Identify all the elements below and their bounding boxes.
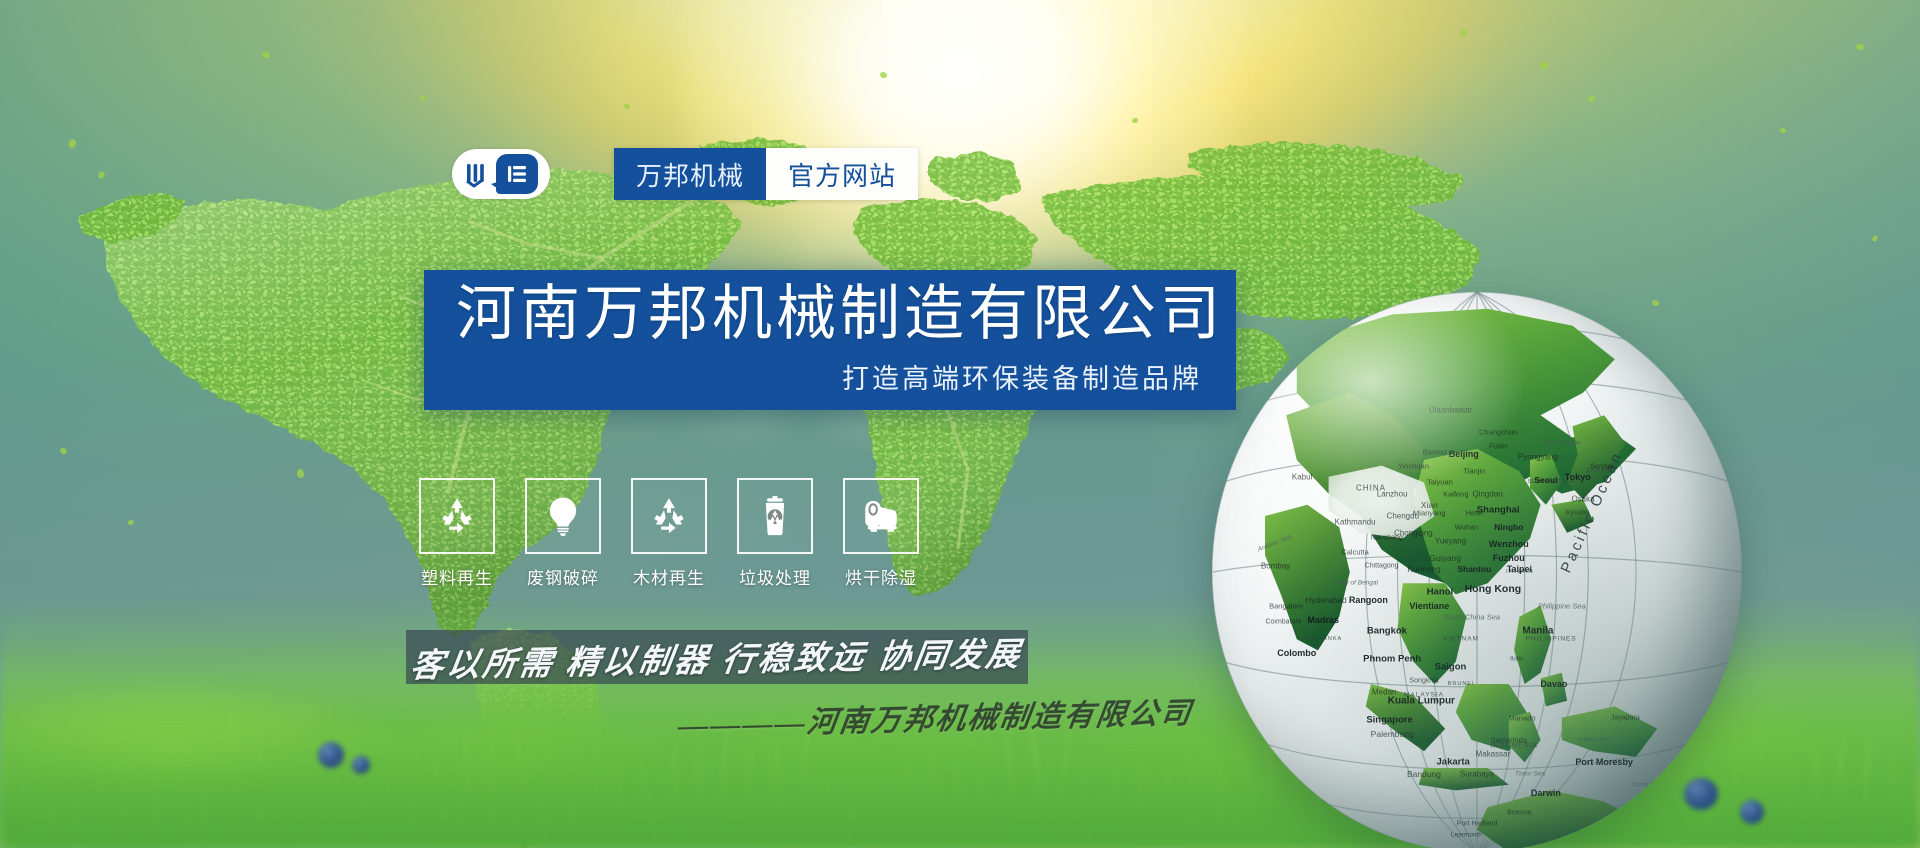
globe-city-label: Hong Kong [1465, 583, 1522, 595]
globe-country-label: BRUNEI [1448, 681, 1475, 687]
globe-city-label: Saigon [1435, 662, 1467, 673]
recycle-icon [419, 478, 495, 554]
globe-city-label: Palembang [1371, 729, 1414, 739]
tab-official-site[interactable]: 官方网站 [766, 148, 918, 200]
globe-city-label: Rangoon [1349, 595, 1388, 605]
globe-city-label: Ningbo [1494, 522, 1523, 532]
globe-city-label: Broome [1507, 809, 1532, 816]
globe-city-label: Fuzhou [1493, 553, 1525, 563]
globe-city-label: Wuhan [1455, 523, 1479, 532]
berry-decoration [318, 742, 344, 768]
globe-city-label: Changchun [1479, 428, 1517, 437]
slogan-text: 客以所需 精以制器 行稳致远 协同发展 [408, 627, 1026, 687]
globe-sea-label: South China Sea [1443, 612, 1500, 621]
page-subtitle: 打造高端环保装备制造品牌 [842, 357, 1202, 396]
globe-city-label: Yinchuan [1398, 461, 1429, 470]
globe-city-label: Nanchang [1371, 535, 1403, 542]
globe-city-label: Kabul [1292, 472, 1312, 481]
globe-city-label: Makassar [1476, 750, 1511, 759]
globe-sea-label: Coral Sea [1632, 781, 1661, 788]
globe-sea-label: Sea of Japan [1543, 440, 1581, 447]
globe-city-label: Manado [1508, 713, 1535, 722]
globe-country-label: PHILIPPINES [1526, 636, 1577, 643]
feature-wood-recycling-label: 木材再生 [633, 564, 705, 589]
feature-plastic-recycling-label: 塑料再生 [421, 564, 493, 589]
feature-wood-recycling[interactable]: 木材再生 [632, 478, 706, 589]
globe-city-label: Ulaanbaatar [1429, 405, 1473, 414]
feature-drying-dehumidify[interactable]: 烘干除湿 [844, 478, 918, 589]
globe-city-label: Vientiane [1409, 601, 1449, 611]
hero-banner: Pacific OceanIndian OceanSouth China Sea… [0, 0, 1920, 848]
globe-city-label: Pyongyang [1518, 453, 1558, 462]
globe-city-label: Manila [1522, 625, 1553, 636]
globe-city-label: Fuxin [1489, 442, 1507, 451]
globe-city-label: Kaifeng [1443, 489, 1468, 498]
globe-sea-label: Arafura Sea [1578, 737, 1610, 743]
feature-drying-dehumidify-label: 烘干除湿 [845, 564, 917, 589]
globe-city-label: Jakarta [1437, 757, 1470, 768]
globe-city-label: Bandung [1407, 769, 1441, 779]
globe-city-label: Davao [1540, 679, 1567, 689]
globe-city-label: Taiyuan [1427, 478, 1453, 487]
hero-title-panel: 河南万邦机械制造有限公司 打造高端环保装备制造品牌 [424, 270, 1236, 410]
globe-sea-label: Philippine Sea [1538, 601, 1586, 610]
brand-tabs: 万邦机械 官方网站 [614, 148, 918, 200]
globe-city-label: Calcutta [1341, 548, 1369, 557]
globe-city-label: Chittagong [1365, 563, 1399, 570]
globe-city-label: Wenzhou [1489, 539, 1529, 549]
globe-city-label: Shantou [1457, 564, 1491, 574]
feature-waste-treatment-label: 垃圾处理 [739, 564, 811, 589]
globe-city-label: Hefei [1466, 509, 1484, 518]
dryer-machine-icon [843, 478, 919, 554]
globe-city-label: Kunming [1407, 564, 1441, 574]
globe-city-label: Port Moresby [1575, 757, 1633, 767]
globe-city-label: Iloilo [1510, 655, 1523, 662]
globe-sphere: Pacific OceanIndian OceanSouth China Sea… [1212, 292, 1742, 848]
globe-city-label: Darwin [1531, 788, 1561, 798]
globe-city-label: Mianyang [1413, 509, 1446, 518]
globe-city-label: Madras [1308, 615, 1340, 625]
globe-city-label: Surabaya [1460, 769, 1494, 778]
slogan-bar: 客以所需 精以制器 行稳致远 协同发展 [406, 630, 1028, 684]
feature-waste-treatment[interactable]: 垃圾处理 [738, 478, 812, 589]
tab-company-label: 万邦机械 [636, 156, 744, 193]
brand-row: 万邦机械 官方网站 [452, 148, 918, 200]
globe-city-label: Baotou [1423, 447, 1447, 456]
globe-city-label: Osaka [1571, 495, 1594, 504]
lightbulb-icon [525, 478, 601, 554]
berry-decoration [1740, 800, 1764, 824]
logo-b-icon [496, 154, 538, 194]
berry-decoration [352, 756, 370, 774]
globe-city-label: Learmonth [1451, 832, 1482, 839]
tab-company[interactable]: 万邦机械 [614, 148, 766, 200]
globe-city-label: Bangkok [1367, 625, 1407, 636]
globe-city-label: Songkhla [1409, 678, 1438, 685]
globe-city-label: Phnom Penh [1363, 653, 1421, 664]
globe-country-label: SRI LANKA [1304, 636, 1342, 642]
globe-city-label: Qingdao [1472, 489, 1502, 498]
globe: Pacific OceanIndian OceanSouth China Sea… [1212, 292, 1742, 848]
globe-city-label: Lanzhou [1377, 489, 1408, 498]
logo-w-icon [464, 160, 494, 188]
globe-city-label: Guiyang [1429, 553, 1461, 563]
feature-plastic-recycling[interactable]: 塑料再生 [420, 478, 494, 589]
globe-city-label: Hanoi [1427, 586, 1453, 597]
globe-city-label: Tianjin [1463, 467, 1485, 476]
globe-sea-label: Timor Sea [1515, 770, 1545, 777]
globe-city-label: Kyushu [1566, 510, 1589, 517]
globe-city-label: Yueyang [1435, 537, 1466, 546]
globe-city-label: Hyderabad [1305, 595, 1347, 605]
page-title: 河南万邦机械制造有限公司 [456, 284, 1224, 344]
globe-sea-label: Bay of Bengal [1338, 580, 1378, 587]
globe-city-label: Colombo [1277, 648, 1316, 658]
wanbang-logo[interactable] [452, 149, 550, 199]
globe-city-label: Singapore [1366, 715, 1412, 726]
globe-city-label: Coimbatore [1265, 619, 1301, 626]
globe-city-label: Jayapura [1611, 714, 1640, 721]
globe-city-label: Sendai [1590, 461, 1613, 470]
globe-city-label: Taipei [1507, 564, 1532, 574]
globe-city-label: Tokyo [1565, 472, 1591, 482]
trash-bin-icon [737, 478, 813, 554]
globe-city-label: Kuala Lumpur [1388, 695, 1455, 706]
feature-list: 塑料再生废钢破碎木材再生垃圾处理烘干除湿 [420, 478, 918, 589]
globe-city-label: Bombay [1261, 562, 1290, 571]
globe-country-label: VIETNAM [1443, 636, 1479, 643]
globe-city-label: Samarinda [1491, 736, 1527, 745]
feature-scrap-steel-crushing[interactable]: 废钢破碎 [526, 478, 600, 589]
globe-city-label: Beijing [1449, 449, 1479, 459]
globe-city-label: Seoul [1534, 475, 1557, 485]
recycle-icon [631, 478, 707, 554]
globe-city-label: Bangalore [1269, 601, 1303, 610]
globe-city-label: Kathmandu [1335, 517, 1376, 526]
tab-official-site-label: 官方网站 [788, 156, 896, 193]
feature-scrap-steel-crushing-label: 废钢破碎 [527, 564, 599, 589]
globe-city-label: Port Hedland [1457, 821, 1498, 828]
